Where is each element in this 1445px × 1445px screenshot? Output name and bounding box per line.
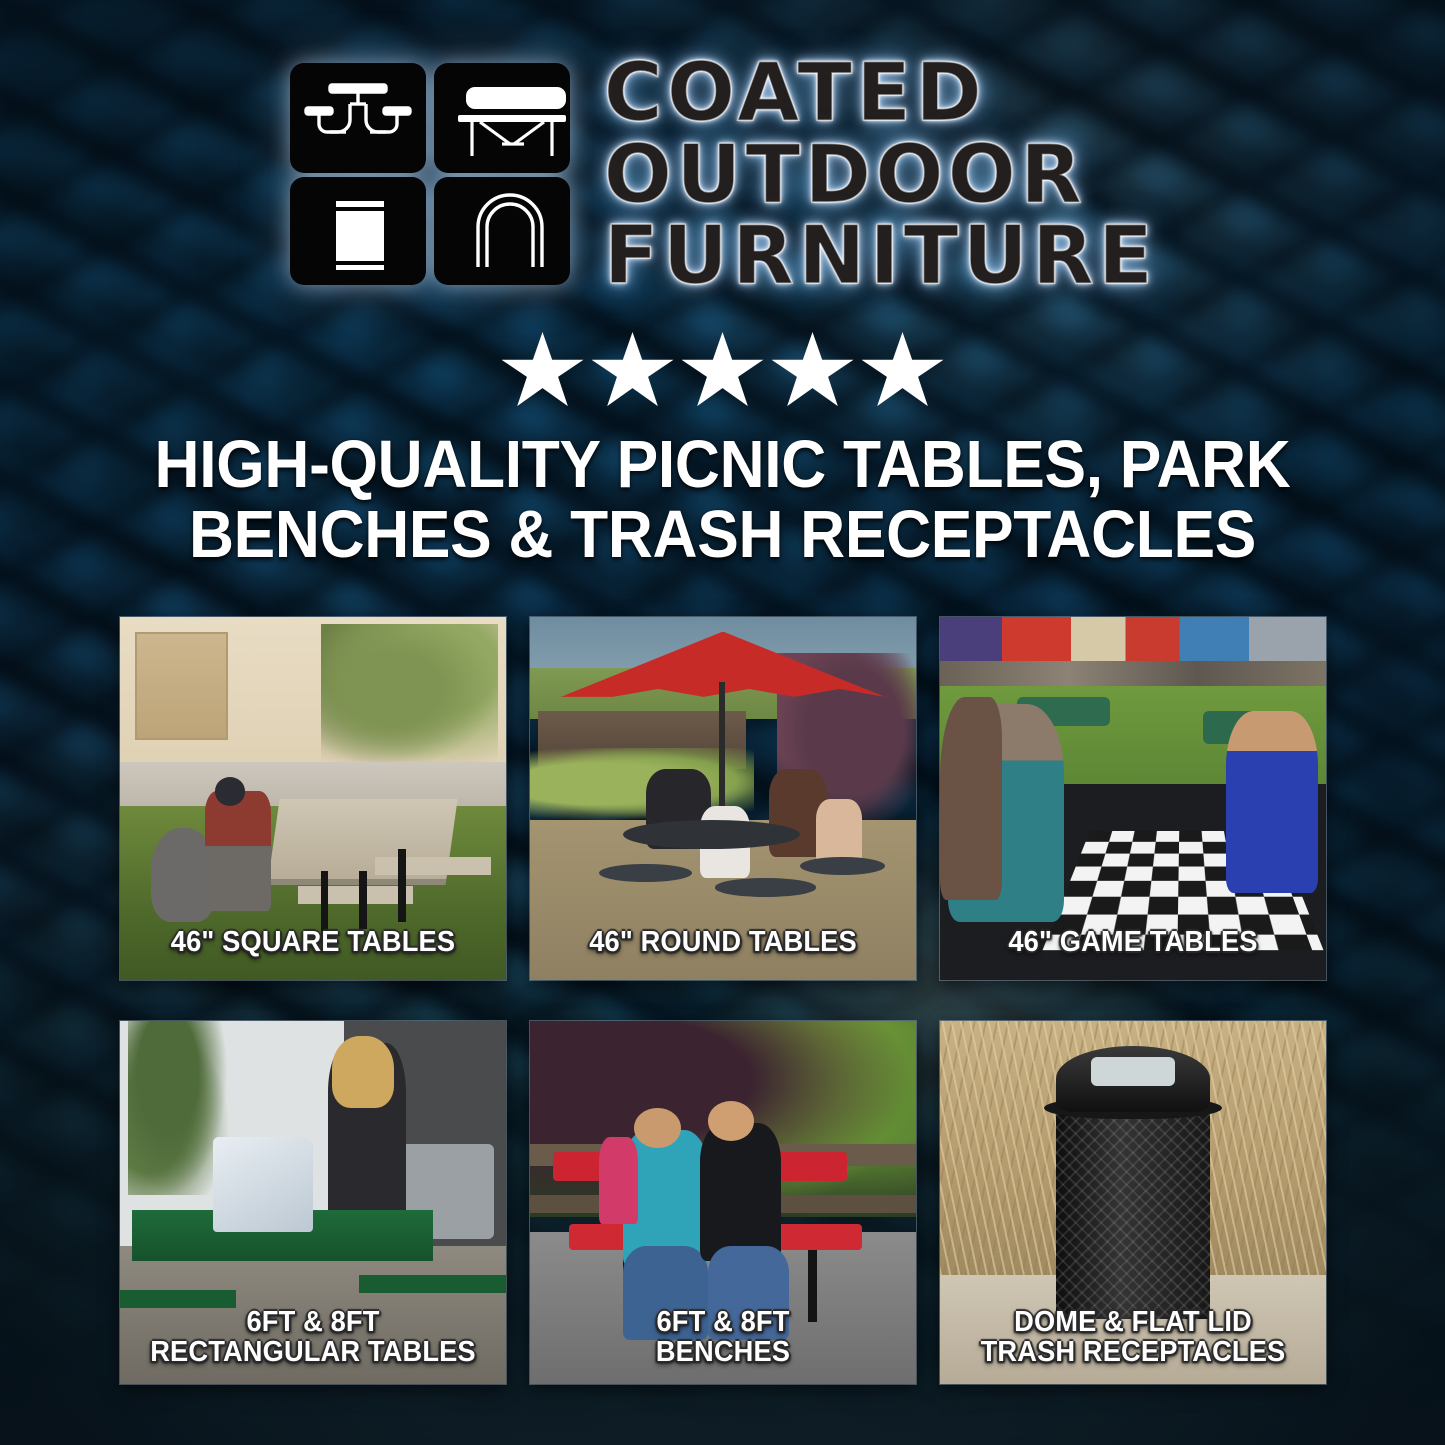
star-rating: [0, 332, 1445, 410]
product-grid: 46" SQUARE TABLES 46: [120, 617, 1326, 1384]
brand-logo-mark: [288, 61, 572, 287]
brand-name-line1: COATED: [604, 56, 986, 130]
star-icon: [592, 332, 674, 410]
brand-wordmark: COATED OUTDOOR FURNITURE: [604, 56, 1157, 293]
product-tile-benches[interactable]: 6FT & 8FT BENCHES: [530, 1021, 916, 1384]
logo-row: COATED OUTDOOR FURNITURE: [0, 56, 1445, 293]
product-tile-rectangular-tables[interactable]: 6FT & 8FT RECTANGULAR TABLES: [120, 1021, 506, 1384]
promotional-poster: COATED OUTDOOR FURNITURE HIGH-QUALITY PI…: [0, 0, 1445, 1445]
star-icon: [682, 332, 764, 410]
star-icon: [862, 332, 944, 410]
product-caption: 6FT & 8FT RECTANGULAR TABLES: [132, 1307, 495, 1368]
trash-receptacle-icon: [336, 201, 384, 270]
product-caption: DOME & FLAT LID TRASH RECEPTACLES: [952, 1307, 1315, 1368]
brand-header: COATED OUTDOOR FURNITURE: [0, 56, 1445, 293]
headline: HIGH-QUALITY PICNIC TABLES, PARK BENCHES…: [51, 430, 1395, 569]
brand-name-line2: OUTDOOR: [604, 138, 1086, 212]
product-caption: 6FT & 8FT BENCHES: [542, 1307, 905, 1368]
brand-name-line3: FURNITURE: [604, 219, 1157, 293]
product-tile-round-tables[interactable]: 46" ROUND TABLES: [530, 617, 916, 980]
star-icon: [502, 332, 584, 410]
product-caption: 46" SQUARE TABLES: [132, 927, 495, 958]
product-tile-square-tables[interactable]: 46" SQUARE TABLES: [120, 617, 506, 980]
product-tile-game-tables[interactable]: 46" GAME TABLES: [940, 617, 1326, 980]
star-icon: [772, 332, 854, 410]
product-caption: 46" GAME TABLES: [952, 927, 1315, 958]
product-caption: 46" ROUND TABLES: [542, 927, 905, 958]
product-tile-trash-receptacles[interactable]: DOME & FLAT LID TRASH RECEPTACLES: [940, 1021, 1326, 1384]
